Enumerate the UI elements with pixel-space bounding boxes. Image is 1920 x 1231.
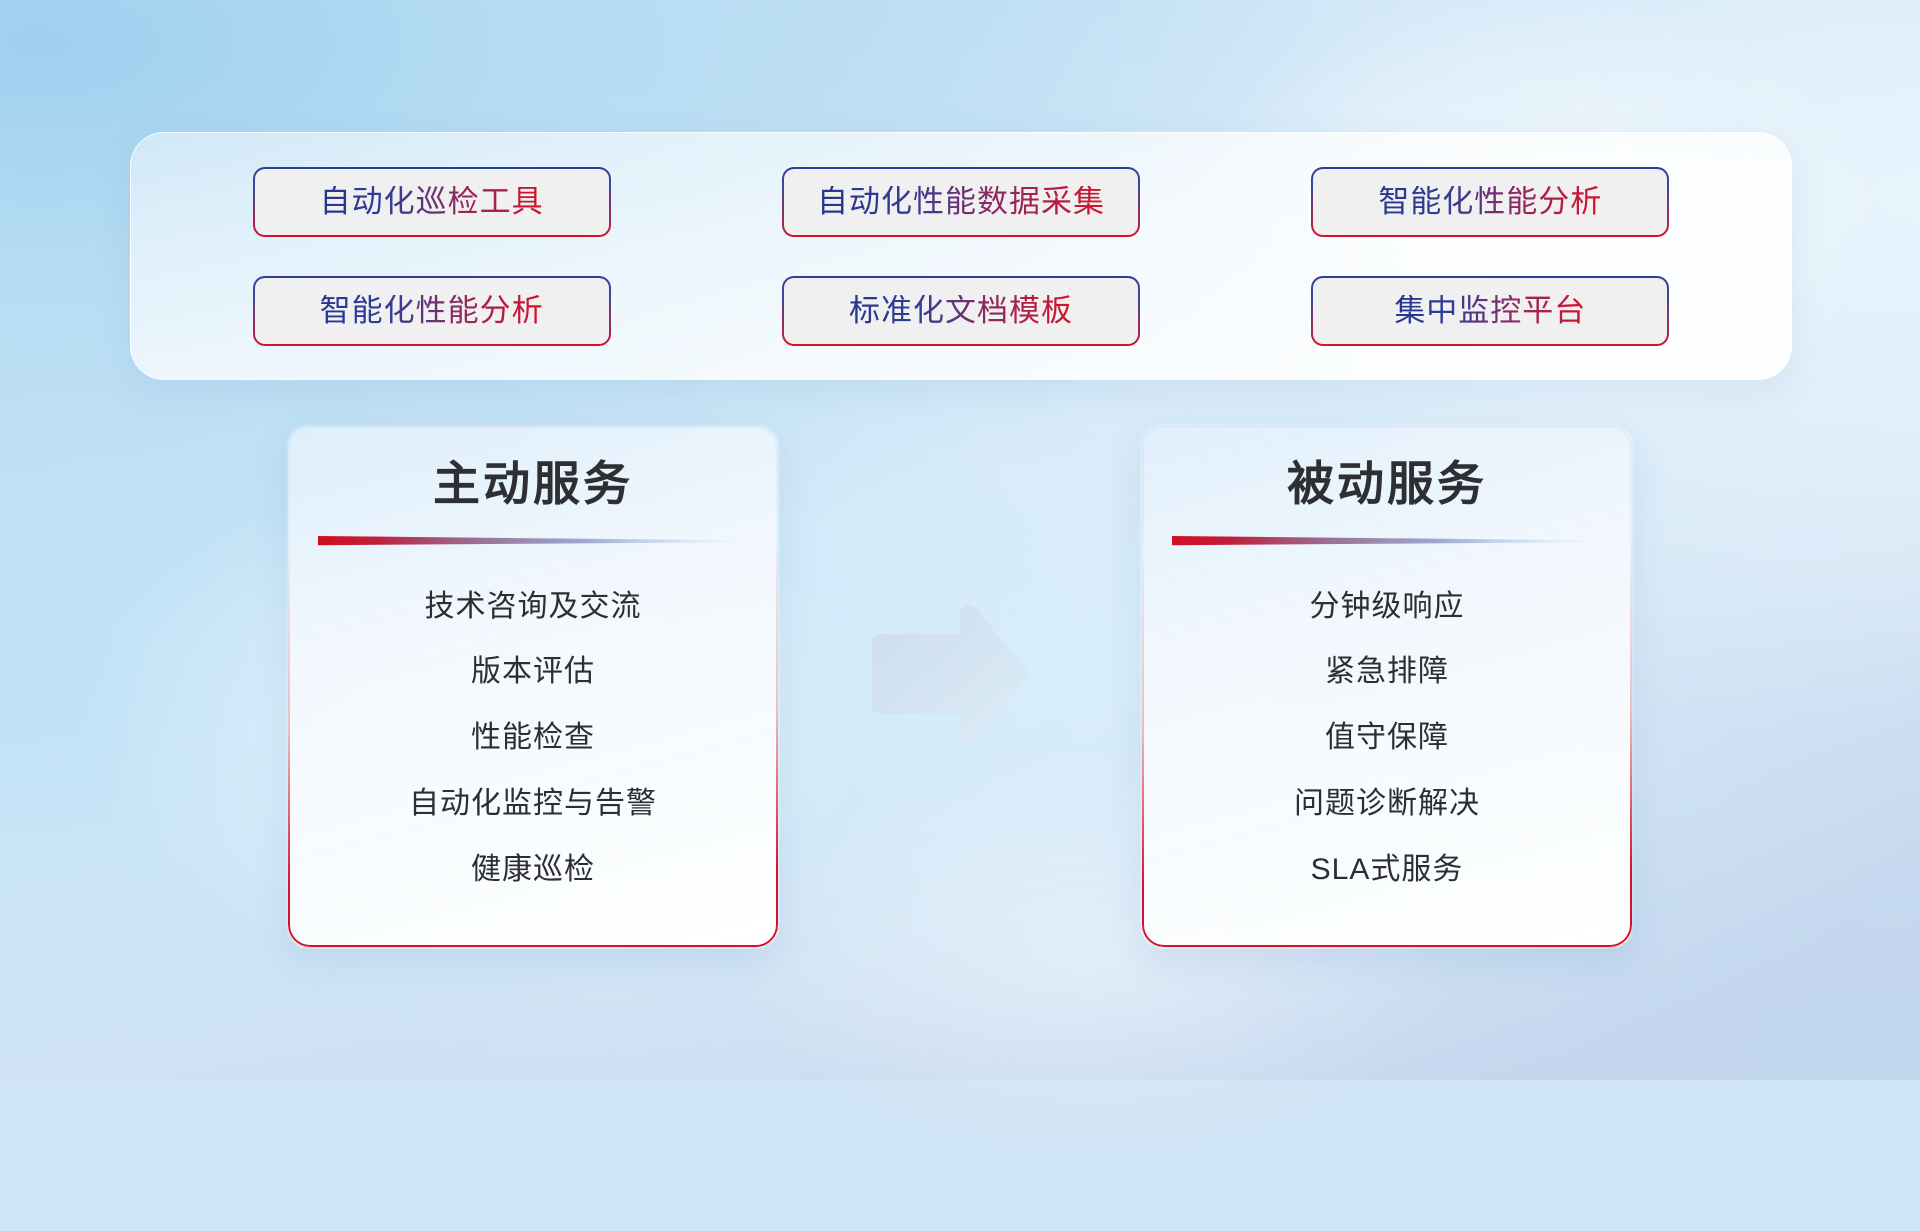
service-item: SLA式服务 [1311,855,1464,885]
service-item: 健康巡检 [471,855,595,885]
card-title-divider [1172,536,1602,546]
capability-tag-label: 自动化性能数据采集 [817,186,1105,217]
diagram-stage: 自动化巡检工具 自动化性能数据采集 智能化性能分析 智能化性能分析 标准化文档模… [0,0,1920,1080]
capability-tag-label: 自动化巡检工具 [320,186,544,217]
service-item: 分钟级响应 [1310,592,1465,622]
service-card-proactive: 主动服务 技术咨询及交流 版本评估 性能检查 [286,424,780,949]
service-item: 性能检查 [471,723,595,753]
capability-tag-label: 智能化性能分析 [320,295,544,326]
capability-tag[interactable]: 集中监控平台 [1311,276,1669,346]
capability-tag[interactable]: 标准化文档模板 [782,276,1140,346]
service-item: 自动化监控与告警 [409,789,657,819]
service-item-list: 技术咨询及交流 版本评估 性能检查 自动化监控与告警 健康巡检 [318,556,748,921]
card-title: 被动服务 [1287,458,1487,510]
capability-tag-label: 智能化性能分析 [1378,186,1602,217]
service-item-list: 分钟级响应 紧急排障 值守保障 问题诊断解决 SLA式服务 [1172,556,1602,921]
card-title-divider [318,536,748,546]
service-card-reactive: 被动服务 分钟级响应 紧急排障 值守保障 [1140,424,1634,949]
service-item: 值守保障 [1325,723,1449,753]
service-item: 问题诊断解决 [1294,789,1480,819]
service-item: 紧急排障 [1325,657,1449,687]
capability-tag[interactable]: 自动化巡检工具 [253,167,611,237]
capability-tag[interactable]: 自动化性能数据采集 [782,167,1140,237]
capability-tag[interactable]: 智能化性能分析 [1311,167,1669,237]
capability-tag-panel: 自动化巡检工具 自动化性能数据采集 智能化性能分析 智能化性能分析 标准化文档模… [130,132,1792,380]
capability-tag[interactable]: 智能化性能分析 [253,276,611,346]
capability-tag-label: 集中监控平台 [1394,295,1586,326]
service-item: 版本评估 [471,657,595,687]
service-item: 技术咨询及交流 [425,592,642,622]
capability-tag-label: 标准化文档模板 [849,295,1073,326]
arrow-right-icon [862,600,1034,748]
card-title: 主动服务 [433,458,633,510]
